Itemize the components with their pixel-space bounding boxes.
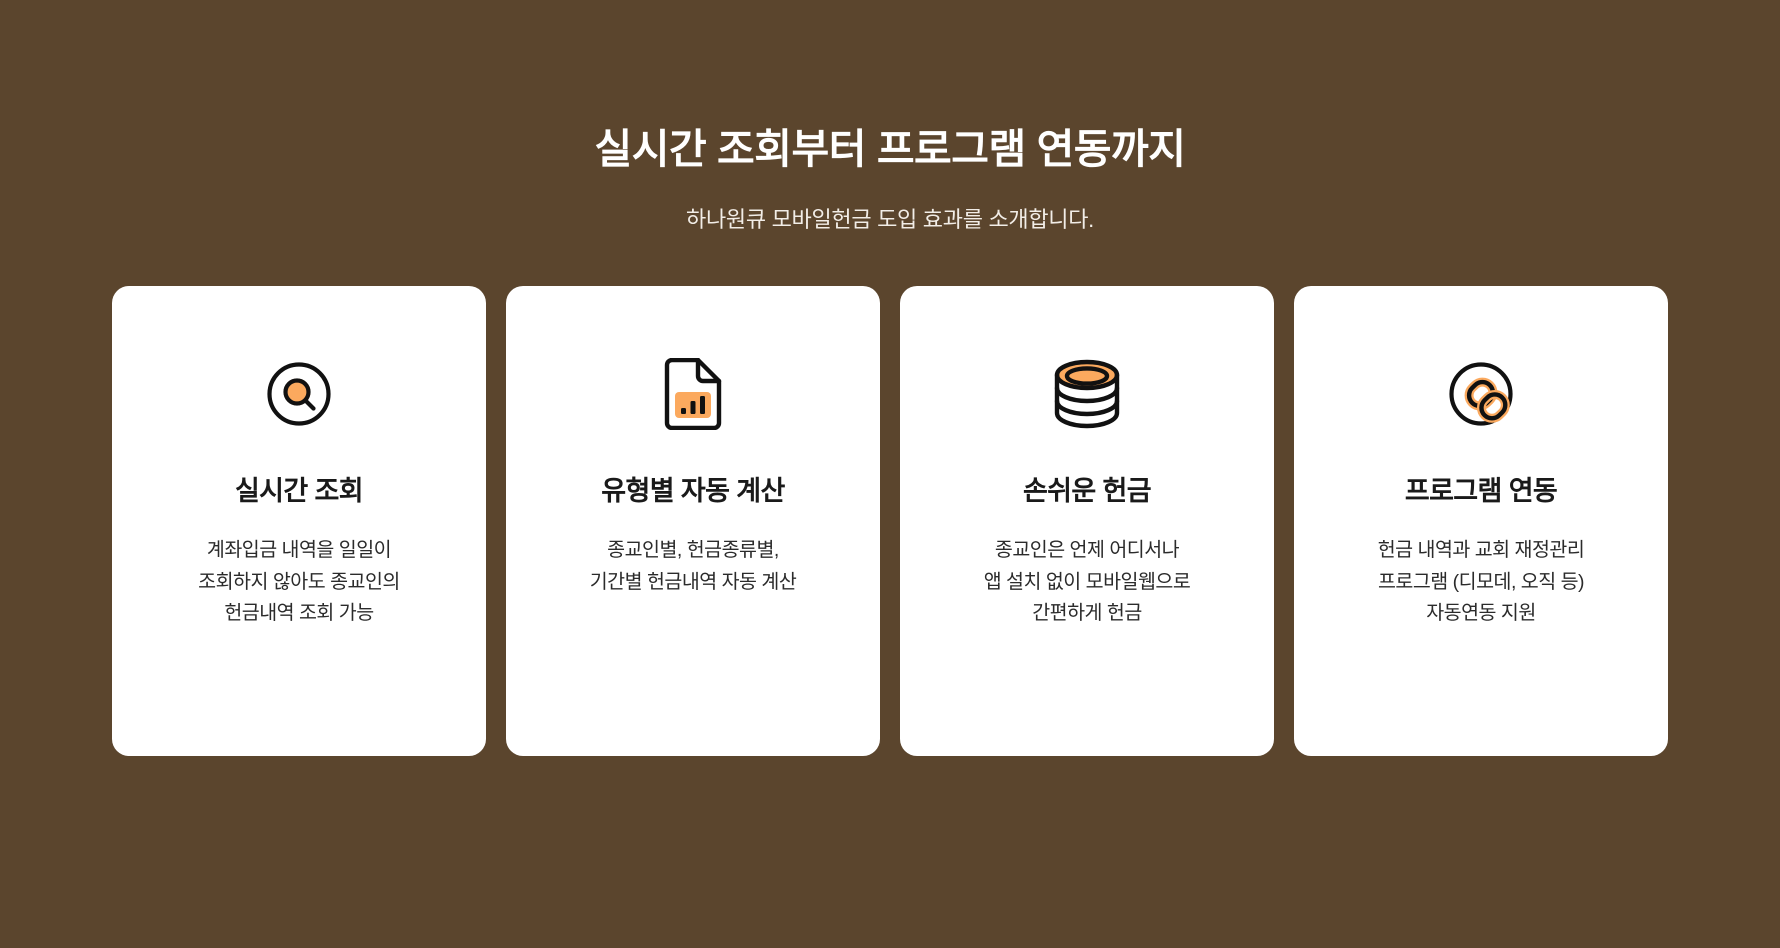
feature-card-title: 실시간 조회 [235,474,363,509]
feature-card-title: 유형별 자동 계산 [601,474,784,509]
feature-card-auto-calculation[interactable]: 유형별 자동 계산 종교인별, 헌금종류별, 기간별 헌금내역 자동 계산 [506,286,880,756]
feature-card-easy-offering[interactable]: 손쉬운 헌금 종교인은 언제 어디서나 앱 설치 없이 모바일웹으로 간편하게 … [900,286,1274,756]
page-title: 실시간 조회부터 프로그램 연동까지 [595,124,1186,175]
feature-card-body: 종교인은 언제 어디서나 앱 설치 없이 모바일웹으로 간편하게 헌금 [984,535,1191,630]
feature-card-body: 종교인별, 헌금종류별, 기간별 헌금내역 자동 계산 [590,535,797,598]
feature-card-program-integration[interactable]: 프로그램 연동 헌금 내역과 교회 재정관리 프로그램 (디모데, 오직 등) … [1294,286,1668,756]
feature-card-title: 프로그램 연동 [1405,474,1557,509]
page-subtitle: 하나원큐 모바일헌금 도입 효과를 소개합니다. [686,205,1094,236]
feature-card-title: 손쉬운 헌금 [1023,474,1151,509]
magnifier-circle-icon [266,358,332,430]
feature-card-body: 계좌입금 내역을 일일이 조회하지 않아도 종교인의 헌금내역 조회 가능 [198,535,400,630]
coin-stack-icon [1052,358,1122,430]
feature-card-list: 실시간 조회 계좌입금 내역을 일일이 조회하지 않아도 종교인의 헌금내역 조… [112,286,1668,756]
link-circle-icon [1448,358,1514,430]
feature-card-body: 헌금 내역과 교회 재정관리 프로그램 (디모데, 오직 등) 자동연동 지원 [1378,535,1585,630]
feature-section: 실시간 조회부터 프로그램 연동까지 하나원큐 모바일헌금 도입 효과를 소개합… [0,0,1780,948]
feature-card-realtime-lookup[interactable]: 실시간 조회 계좌입금 내역을 일일이 조회하지 않아도 종교인의 헌금내역 조… [112,286,486,756]
document-chart-icon [662,358,724,430]
